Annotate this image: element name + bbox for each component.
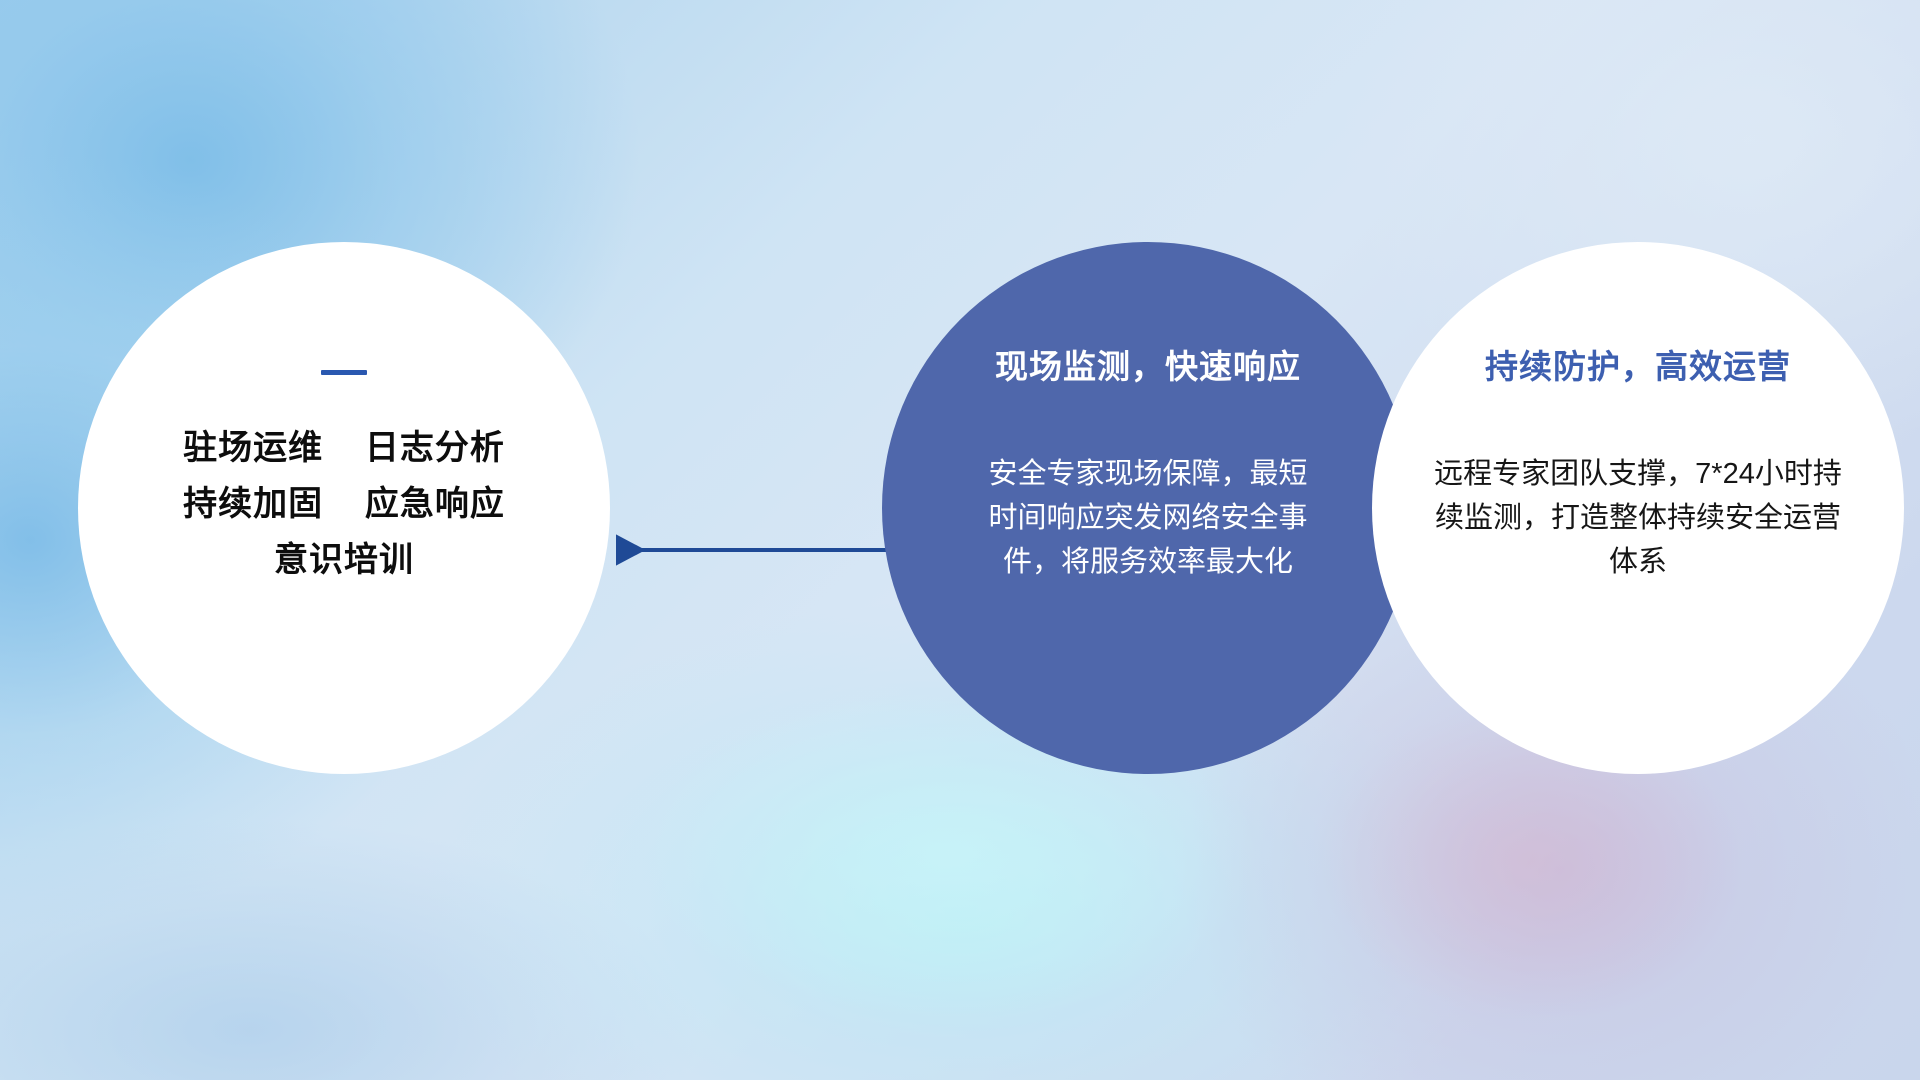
left-circle-line-2: 持续加固 应急响应	[183, 487, 505, 521]
left-circle-line-3: 意识培训	[274, 543, 414, 577]
middle-onsite-circle[interactable]: 现场监测，快速响应 安全专家现场保障，最短时间响应突发网络安全事件，将服务效率最…	[882, 242, 1414, 774]
middle-circle-body: 安全专家现场保障，最短时间响应突发网络安全事件，将服务效率最大化	[983, 452, 1313, 584]
right-circle-body: 远程专家团队支撑，7*24小时持续监测，打造整体持续安全运营体系	[1434, 452, 1842, 584]
divider-dash-icon	[321, 370, 367, 375]
slide-canvas: 驻场运维 日志分析 持续加固 应急响应 意识培训 现场监测，快速响应 安全专家现…	[0, 0, 1920, 1080]
left-capability-circle[interactable]: 驻场运维 日志分析 持续加固 应急响应 意识培训	[78, 242, 610, 774]
middle-circle-title: 现场监测，快速响应	[995, 340, 1301, 388]
right-operations-circle[interactable]: 持续防护，高效运营 远程专家团队支撑，7*24小时持续监测，打造整体持续安全运营…	[1372, 242, 1904, 774]
left-circle-line-1: 驻场运维 日志分析	[183, 431, 505, 465]
right-circle-title: 持续防护，高效运营	[1485, 340, 1791, 388]
left-circle-text-block: 驻场运维 日志分析 持续加固 应急响应 意识培训	[78, 431, 610, 577]
arrow-connector	[600, 505, 900, 595]
